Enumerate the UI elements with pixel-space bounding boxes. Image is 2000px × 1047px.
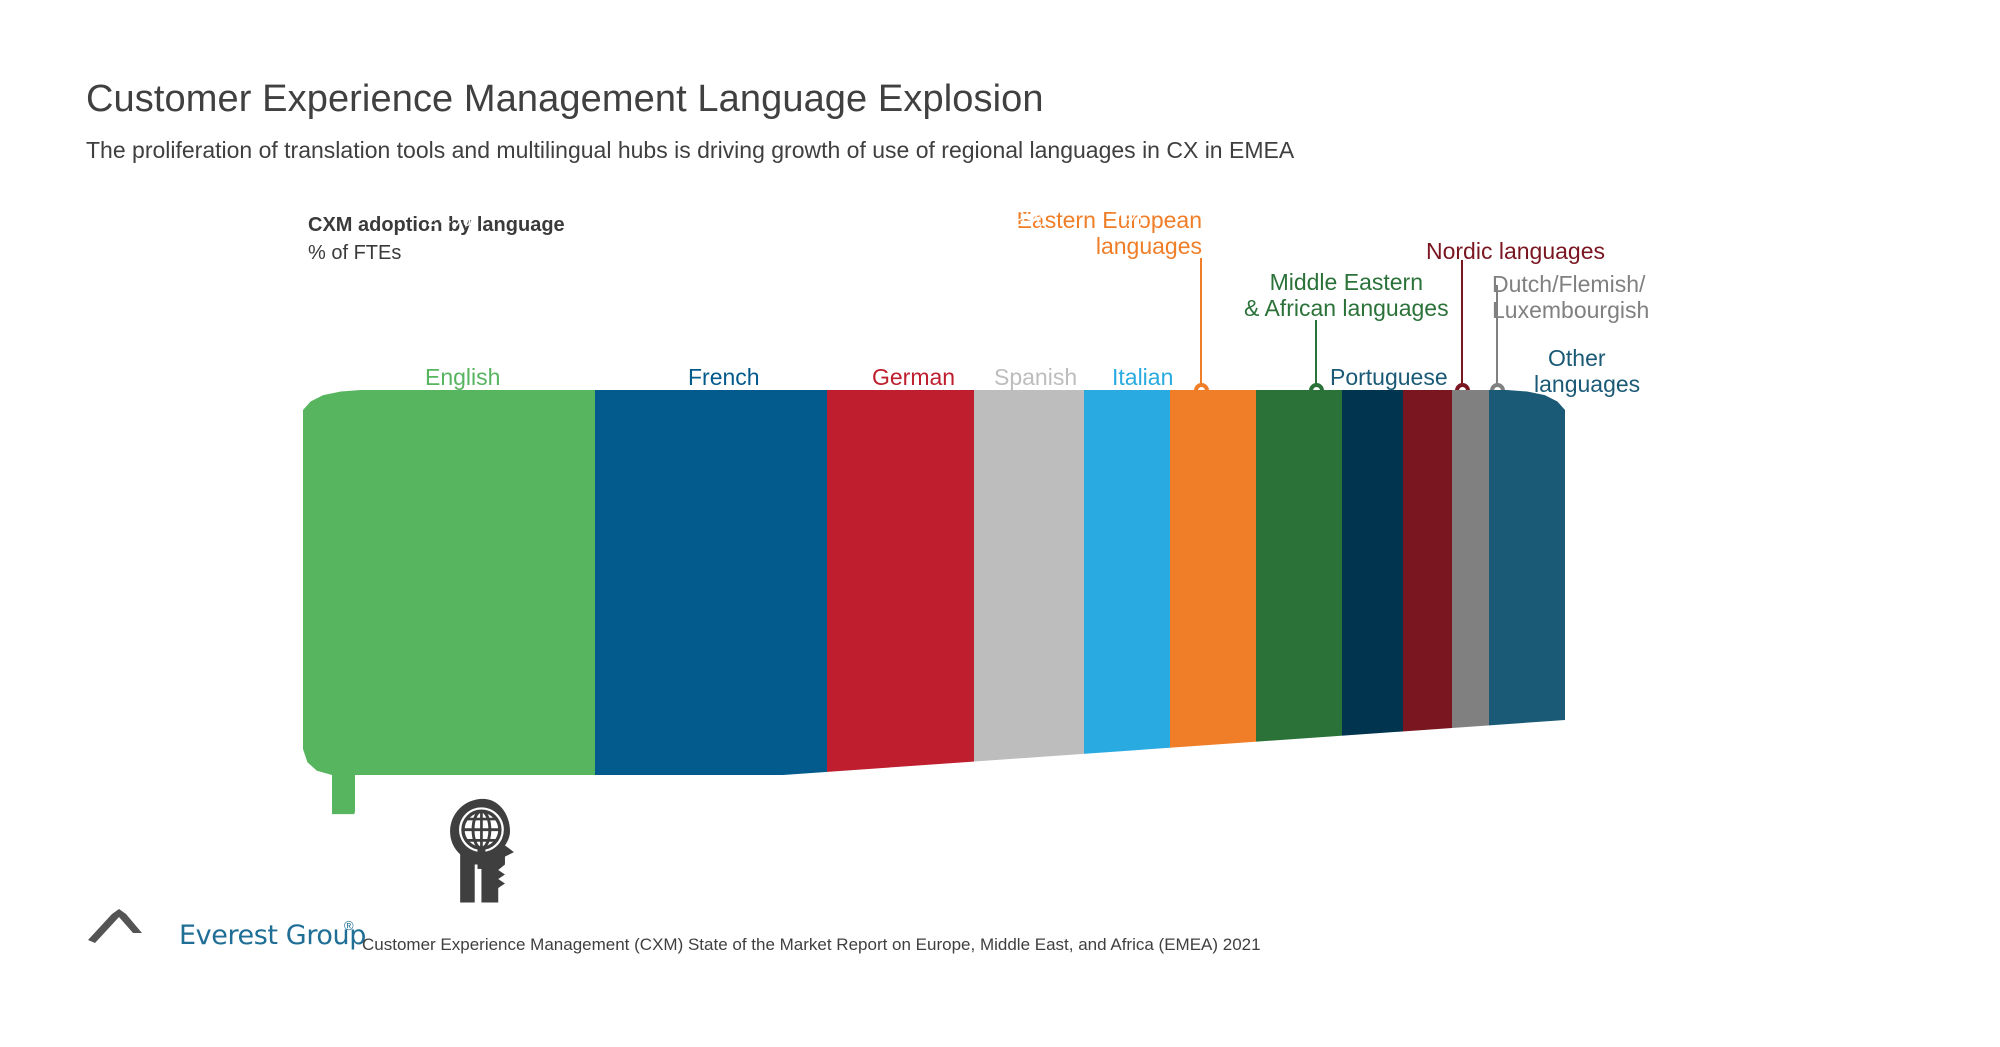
- registered-mark: ®: [344, 918, 354, 933]
- segment-label-french: French: [688, 364, 760, 391]
- stacked-bar-clip: [303, 390, 1565, 815]
- bar-segment-middle-eastern[interactable]: [1256, 390, 1342, 815]
- bar-segment-french[interactable]: [595, 390, 827, 815]
- bar-value-dutch: 3%: [1450, 206, 1489, 232]
- segment-label-spanish: Spanish: [994, 364, 1077, 391]
- callout-line-1: Dutch/Flemish/: [1492, 271, 1649, 297]
- bar-value-middle-eastern: 7%: [1256, 206, 1342, 232]
- chart-unit-label: % of FTEs: [308, 242, 401, 265]
- bar-segment-other[interactable]: [1489, 390, 1565, 815]
- everest-group-logo-text: Everest Group: [179, 920, 366, 951]
- bar-value-italian: 7%: [1084, 206, 1170, 232]
- callout-line-2: & African languages: [1244, 295, 1449, 321]
- stacked-bar: [303, 390, 1565, 815]
- bar-value-english: 24%: [303, 206, 595, 232]
- head-globe-icon: [440, 795, 552, 907]
- segment-label-italian: Italian: [1112, 364, 1173, 391]
- callout-line-1: Other: [1548, 345, 1640, 371]
- bar-segment-nordic[interactable]: [1403, 390, 1452, 815]
- bar-value-nordic: 4%: [1403, 206, 1452, 232]
- callout-middle-eastern-african-languages: Middle Eastern & African languages: [1244, 269, 1449, 321]
- bar-value-french: 19%: [595, 206, 827, 232]
- callout-nordic-languages: Nordic languages: [1426, 238, 1605, 264]
- callout-dutch-flemish-luxembourgish: Dutch/Flemish/ Luxembourgish: [1492, 271, 1649, 323]
- bar-segment-german[interactable]: [827, 390, 974, 815]
- bar-segment-eastern-european[interactable]: [1170, 390, 1256, 815]
- bar-segment-portuguese[interactable]: [1342, 390, 1403, 815]
- bar-segment-italian[interactable]: [1084, 390, 1170, 815]
- leader-line-eastern-european: [1200, 258, 1202, 398]
- bar-segment-spanish[interactable]: [974, 390, 1084, 815]
- segment-label-portuguese: Portuguese: [1330, 364, 1448, 391]
- segment-label-english: English: [425, 364, 500, 391]
- bar-value-other: 3%: [1487, 206, 1533, 232]
- bar-value-portuguese: 5%: [1342, 206, 1403, 232]
- segment-label-german: German: [872, 364, 955, 391]
- bar-segment-english[interactable]: [303, 390, 595, 815]
- footer: Everest Group ® Customer Experience Mana…: [86, 900, 1686, 970]
- source-citation: Customer Experience Management (CXM) Sta…: [362, 935, 1261, 955]
- callout-line-1: Middle Eastern: [1244, 269, 1449, 295]
- bar-value-eastern-european: 7%: [1170, 206, 1256, 232]
- bar-segment-dutch[interactable]: [1452, 390, 1489, 815]
- chart-area: CXM adoption by language % of FTEs Engli…: [0, 0, 2000, 1047]
- bar-value-spanish: 9%: [974, 206, 1084, 232]
- callout-line-1: Nordic languages: [1426, 238, 1605, 264]
- callout-line-2: Luxembourgish: [1492, 297, 1649, 323]
- bar-value-german: 12%: [827, 206, 974, 232]
- callout-line-2: languages: [1005, 233, 1202, 259]
- leader-line-nordic: [1461, 260, 1463, 398]
